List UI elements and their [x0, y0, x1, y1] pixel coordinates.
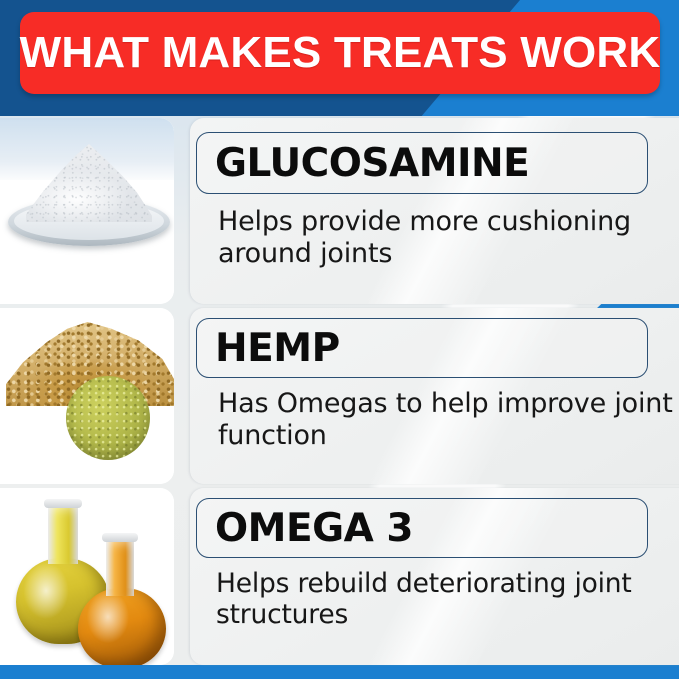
omega-oil-bottles-photo	[0, 488, 174, 665]
orange-bottle-neck	[106, 536, 134, 596]
page-title: WHAT MAKES TREATS WORK	[20, 28, 661, 78]
glucosamine-powder-photo	[0, 118, 174, 304]
infographic-root: WHAT MAKES TREATS WORK GLUCOSAMINE Helps…	[0, 0, 679, 679]
ingredient-text-card: GLUCOSAMINE Helps provide more cushionin…	[190, 118, 679, 304]
ingredient-row-omega-3: OMEGA 3 Helps rebuild deteriorating join…	[0, 488, 679, 665]
orange-oil-bottle-icon	[78, 588, 166, 665]
ingredient-image-card	[0, 118, 174, 304]
ingredient-description: Has Omegas to help improve joint functio…	[218, 388, 673, 452]
ingredient-title-box: OMEGA 3	[196, 498, 648, 558]
ingredient-image-card	[0, 308, 174, 484]
orange-bottle-lip	[102, 533, 138, 542]
ingredient-title-box: HEMP	[196, 318, 648, 378]
yellow-bottle-lip	[44, 499, 82, 508]
ingredient-text-card: OMEGA 3 Helps rebuild deteriorating join…	[190, 488, 679, 665]
hemp-powder-texture	[66, 376, 150, 460]
ingredient-description: Helps provide more cushioning around joi…	[218, 206, 673, 270]
ingredient-text-card: HEMP Has Omegas to help improve joint fu…	[190, 308, 679, 484]
ingredient-title: HEMP	[197, 329, 340, 368]
ingredient-row-hemp: HEMP Has Omegas to help improve joint fu…	[0, 308, 679, 484]
ingredient-title-box: GLUCOSAMINE	[196, 132, 648, 194]
header-banner: WHAT MAKES TREATS WORK	[20, 12, 660, 94]
yellow-bottle-neck	[48, 502, 78, 564]
ingredient-row-glucosamine: GLUCOSAMINE Helps provide more cushionin…	[0, 118, 679, 304]
ingredient-description: Helps rebuild deteriorating joint struct…	[216, 568, 671, 631]
ingredient-image-card	[0, 488, 174, 665]
ingredient-title: OMEGA 3	[197, 509, 413, 548]
bottom-blue-bar	[0, 665, 679, 679]
hemp-seeds-powder-photo	[0, 308, 174, 484]
header-band: WHAT MAKES TREATS WORK	[0, 0, 679, 118]
ingredient-title: GLUCOSAMINE	[197, 144, 529, 183]
